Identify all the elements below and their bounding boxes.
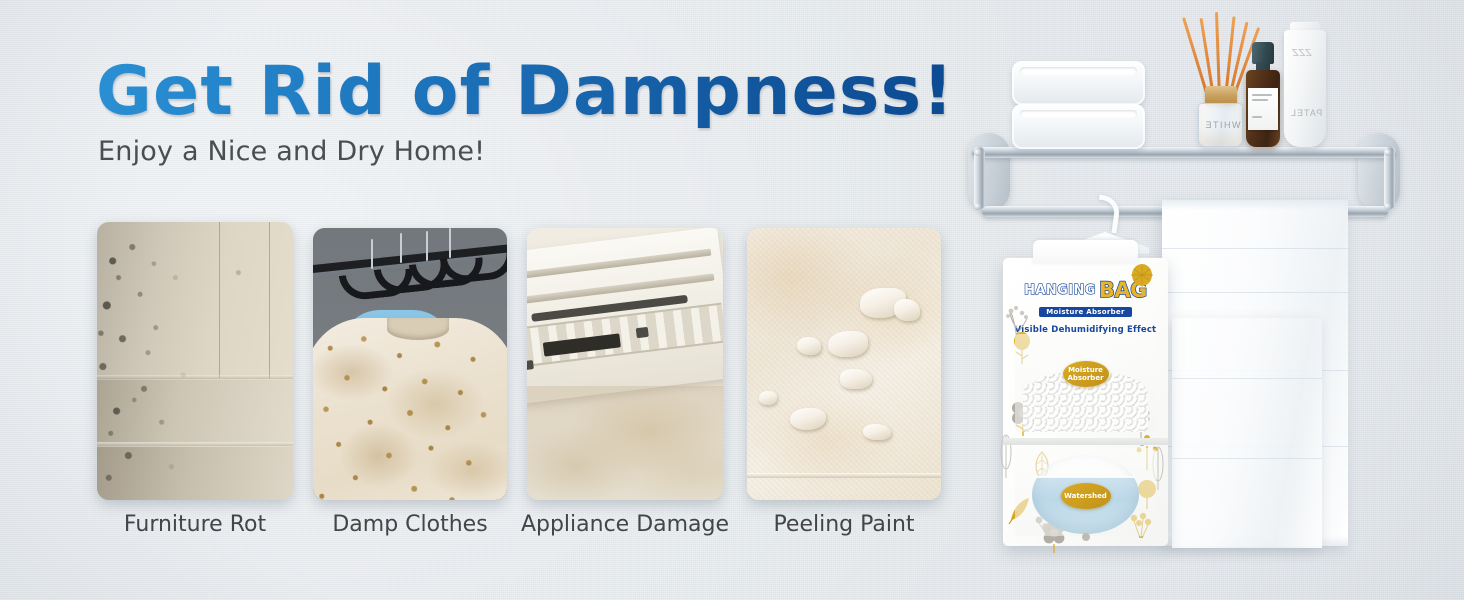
product-package[interactable]: HANGING BAG Moisture Absorber Visible De… (1003, 258, 1168, 546)
damp-clothes-image (313, 228, 507, 500)
hanging-towel-fold (1172, 318, 1322, 548)
brand-name-bag: BAG (1099, 280, 1147, 301)
paint-flake (759, 391, 777, 405)
tube-text: PATEL (1290, 108, 1322, 118)
upper-window-moisture-beads: Moisture Absorber (1015, 334, 1156, 432)
rack-side-right (1384, 147, 1395, 209)
rack-side-left (974, 147, 985, 209)
paint-flake (790, 408, 826, 430)
mold-spots-secondary (97, 222, 293, 500)
package-divider (1003, 438, 1168, 445)
wall-ledge (747, 473, 941, 478)
rack-bolt (974, 203, 981, 210)
spray-bottle-cap (1252, 42, 1274, 64)
spray-bottle-label (1248, 88, 1278, 130)
wall-grain (747, 228, 941, 500)
problem-label-furniture-rot: Furniture Rot (124, 512, 266, 537)
package-bottom-dot (1082, 533, 1090, 541)
ac-sensor (636, 327, 649, 338)
ac-vent (527, 249, 712, 280)
mouldy-sofa-image (97, 222, 293, 500)
badge-watershed: Watershed (1061, 483, 1111, 509)
folded-towel (1012, 104, 1145, 149)
ac-unit (527, 228, 723, 404)
problem-card-furniture-rot: Furniture Rot (97, 222, 293, 500)
paint-flake (797, 337, 821, 355)
rack-bolt (1384, 149, 1391, 156)
paint-flake (863, 424, 891, 440)
page-subtitle: Enjoy a Nice and Dry Home! (98, 136, 485, 167)
paint-flake (840, 369, 872, 389)
mildew-spots (313, 326, 507, 500)
hanger-hook (449, 228, 451, 258)
problem-label-damp-clothes: Damp Clothes (332, 512, 487, 537)
problem-card-appliance-damage: Appliance Damage (527, 228, 723, 500)
page-title: Get Rid of Dampness! (96, 52, 954, 131)
problem-label-peeling-paint: Peeling Paint (773, 512, 914, 537)
diffuser-jar-text: WHITE (1204, 120, 1241, 130)
tube-zzz-mark: zzz (1292, 44, 1312, 59)
peeling-paint-image (747, 228, 941, 500)
tube-body: zzz PATEL (1284, 30, 1326, 147)
problem-card-peeling-paint: Peeling Paint (747, 228, 941, 500)
water-damage-stain (527, 386, 723, 500)
air-conditioner-image (527, 228, 723, 500)
folded-towel (1012, 61, 1145, 105)
diffuser-jar: WHITE (1198, 103, 1243, 147)
brand-subtitle: Moisture Absorber (1039, 307, 1131, 317)
rack-bolt (974, 149, 981, 156)
brand-name-hanging: HANGING (1024, 284, 1096, 297)
hanger-hook-icon (1095, 195, 1122, 234)
hanger-hook (371, 239, 373, 269)
problem-card-damp-clothes: Damp Clothes (313, 228, 507, 500)
package-logo-block: HANGING BAG Moisture Absorber Visible De… (1003, 280, 1168, 335)
rack-bolt (1384, 203, 1391, 210)
badge-moisture-absorber: Moisture Absorber (1063, 361, 1109, 387)
promo-banner: Get Rid of Dampness! Enjoy a Nice and Dr… (0, 0, 1464, 600)
package-header-flap (1033, 240, 1138, 264)
hanger-hook (400, 233, 402, 263)
hanger-hook (426, 231, 428, 261)
problem-label-appliance-damage: Appliance Damage (521, 512, 729, 537)
lower-window-collected-water: Watershed (1015, 448, 1156, 536)
